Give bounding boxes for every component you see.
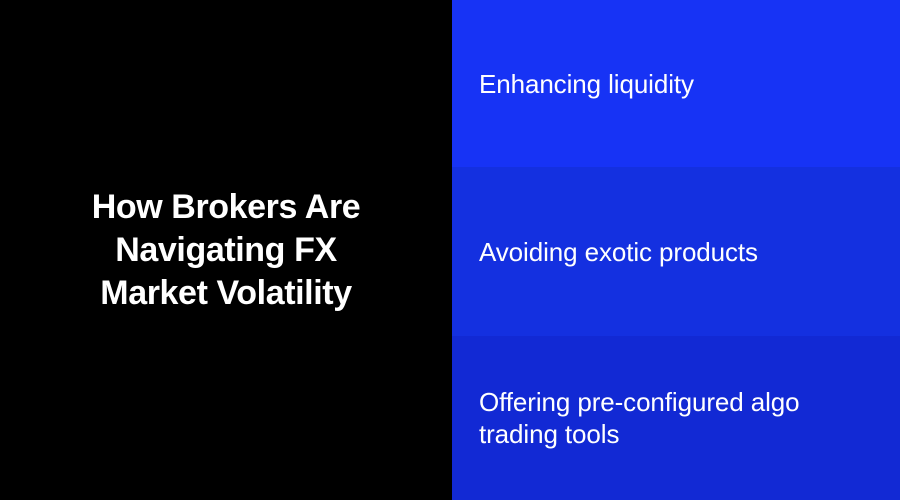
point-band-enhancing-liquidity: Enhancing liquidity xyxy=(452,0,900,167)
slide-canvas: How Brokers Are Navigating FX Market Vol… xyxy=(0,0,900,500)
point-band-offering-algo-trading-tools: Offering pre-configured algo trading too… xyxy=(452,336,900,500)
point-band-avoiding-exotic-products: Avoiding exotic products xyxy=(452,167,900,336)
points-pane: Enhancing liquidity Avoiding exotic prod… xyxy=(452,0,900,500)
point-label: Avoiding exotic products xyxy=(479,236,758,268)
point-label: Enhancing liquidity xyxy=(479,68,694,100)
point-label: Offering pre-configured algo trading too… xyxy=(479,386,848,450)
title-pane: How Brokers Are Navigating FX Market Vol… xyxy=(0,0,452,500)
page-title: How Brokers Are Navigating FX Market Vol… xyxy=(92,186,361,315)
